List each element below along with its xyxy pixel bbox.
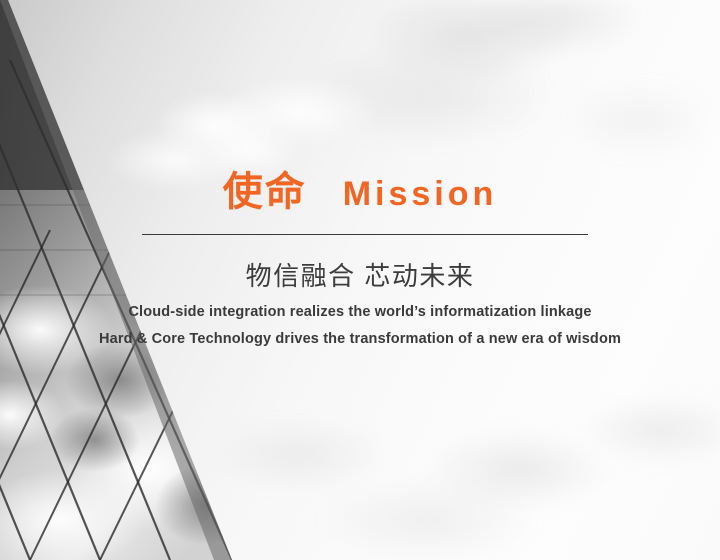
tagline-line-1: Cloud-side integration realizes the worl…	[0, 304, 720, 320]
title-chinese: 使命	[223, 170, 307, 214]
title-english: Mission	[343, 175, 498, 213]
subtitle-chinese: 物信融合 芯动未来	[0, 260, 720, 293]
banner-title: 使命Mission	[0, 172, 720, 212]
title-divider	[142, 234, 588, 235]
mission-banner: 使命Mission 物信融合 芯动未来 Cloud-side integrati…	[0, 0, 720, 560]
banner-content: 使命Mission 物信融合 芯动未来 Cloud-side integrati…	[0, 0, 720, 560]
tagline-line-2: Hard & Core Technology drives the transf…	[0, 331, 720, 347]
